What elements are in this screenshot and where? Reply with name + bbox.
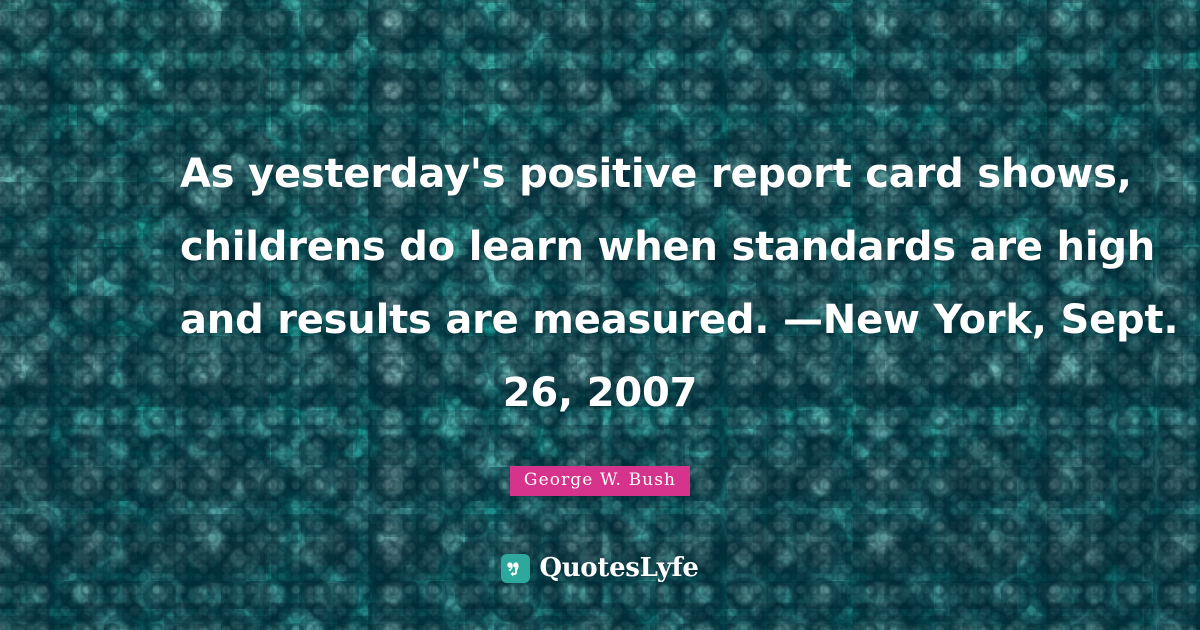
- quote-text: As yesterday's positive report card show…: [180, 138, 1020, 430]
- quote-line: and results are measured. —New York, Sep…: [180, 284, 1020, 357]
- quote-line: childrens do learn when standards are hi…: [180, 211, 1020, 284]
- quote-card: As yesterday's positive report card show…: [0, 0, 1200, 630]
- logo-wordmark: QuotesLyfe: [539, 553, 698, 583]
- author-attribution: George W. Bush: [510, 466, 690, 496]
- site-logo[interactable]: QuotesLyfe: [0, 553, 1200, 583]
- quote-line: As yesterday's positive report card show…: [180, 138, 1020, 211]
- author-name-badge[interactable]: George W. Bush: [510, 466, 690, 496]
- quote-line: 26, 2007: [180, 357, 1020, 430]
- quote-mark-icon: [501, 554, 530, 583]
- card-content: As yesterday's positive report card show…: [0, 0, 1200, 630]
